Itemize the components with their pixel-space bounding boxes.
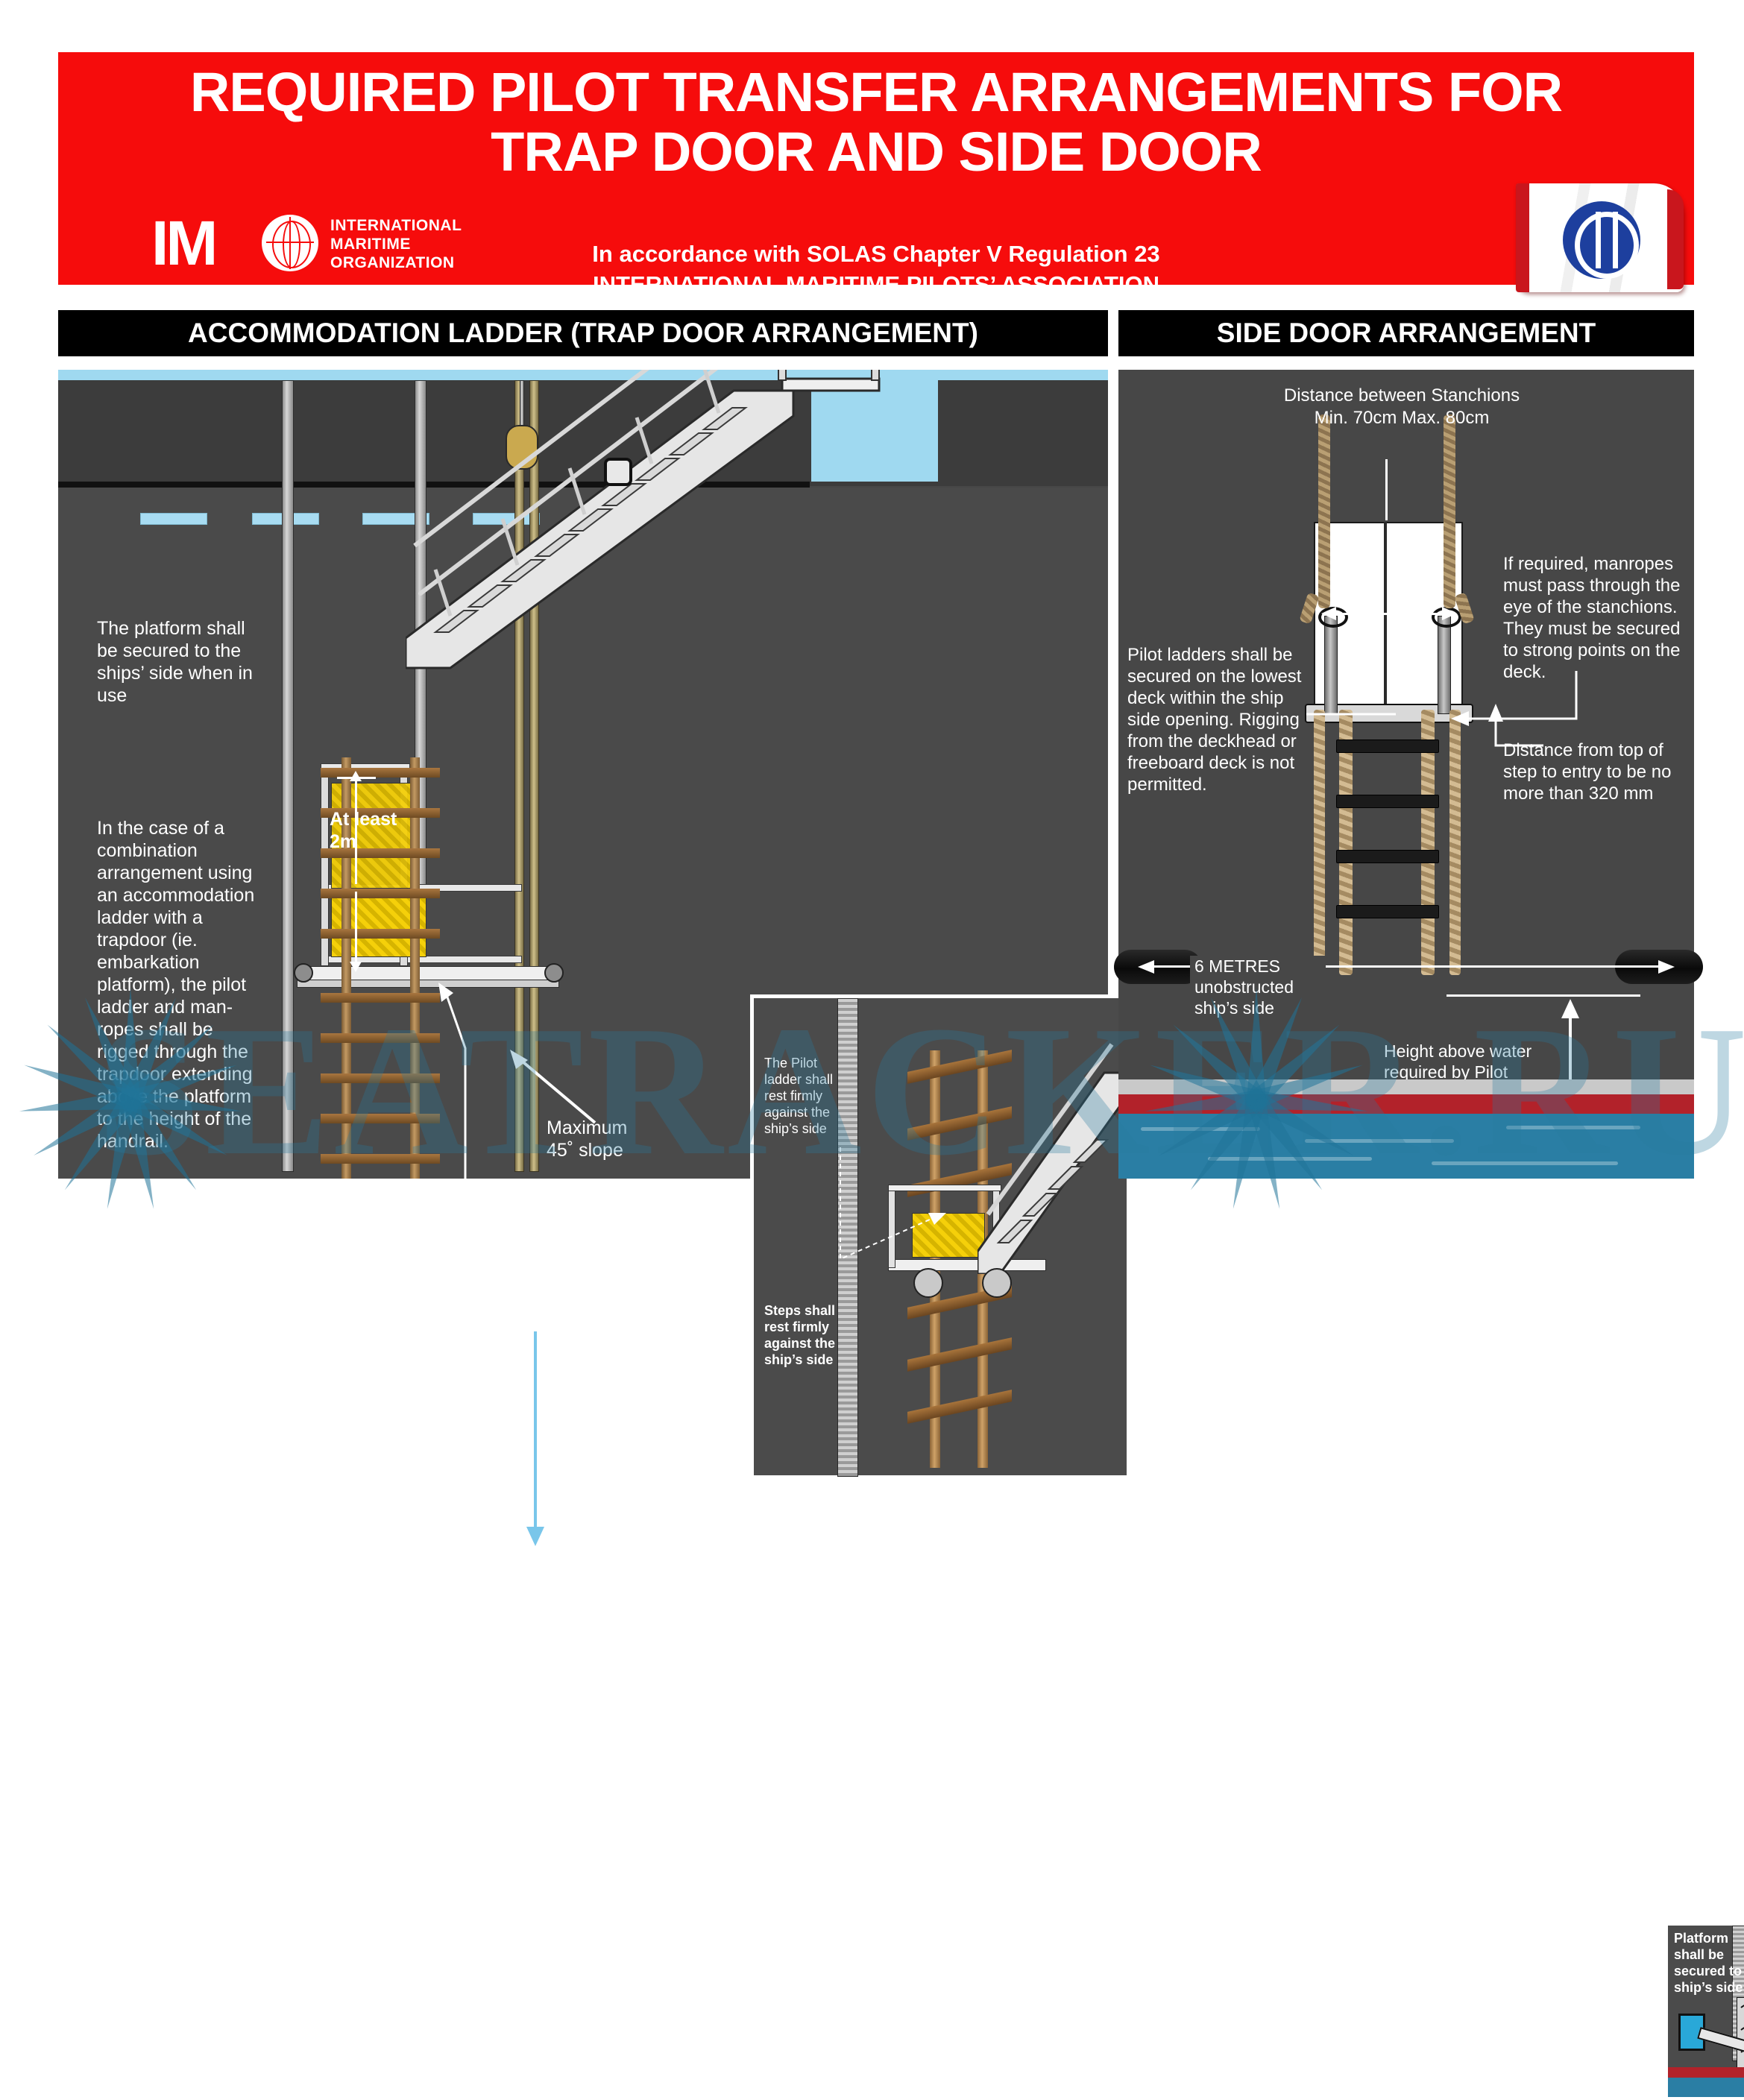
wave-line: [1141, 1127, 1260, 1131]
pilot-ladder-step: [1336, 740, 1439, 753]
inset-trapdoor-detail: The Pilot ladder shall rest firmly again…: [750, 994, 1130, 1479]
inset2-red-band: [1668, 2067, 1744, 2078]
annotation-pilot-ladders-secured: Pilot ladders shall be secured on the lo…: [1127, 644, 1320, 795]
inset-leader-1: [805, 1147, 954, 1289]
sea-water: [1118, 1114, 1694, 1179]
manrope: [1318, 414, 1330, 608]
globe-icon: [262, 215, 318, 271]
flag-red-right: [1667, 189, 1684, 289]
poster-canvas: REQUIRED PILOT TRANSFER ARRANGEMENTS FOR…: [0, 0, 1744, 1233]
at-least-label: At least: [330, 808, 426, 830]
platform-pivot: [294, 963, 313, 983]
annotation-six-metres: 6 METRES unobstructed ship’s side: [1190, 956, 1326, 1018]
six-metres-line-3: ship’s side: [1194, 997, 1321, 1018]
inset-annotation-steps-rest: Steps shall rest firmly against the ship…: [764, 1302, 852, 1368]
page-title: REQUIRED PILOT TRANSFER ARRANGEMENTS FOR…: [58, 63, 1694, 182]
imo-text-line-1: INTERNATIONAL: [330, 216, 462, 235]
annotation-height-above-water: Height above water required by Pilot: [1384, 1041, 1563, 1082]
stanchion-leader-line: [1385, 459, 1388, 520]
stanchions-line-2: Min. 70cm Max. 80cm: [1208, 407, 1596, 429]
pilot-ladder-step: [321, 929, 440, 939]
stanchion-pole: [282, 380, 294, 1172]
six-metres-line-2: unobstructed: [1194, 977, 1321, 997]
stanchion-dim-arrows: [1320, 604, 1458, 623]
leader-line-lower-platform: [431, 981, 528, 1235]
at-least-value: 2m: [330, 830, 426, 853]
imo-text-line-3: ORGANIZATION: [330, 253, 462, 272]
pilot-ladder-step: [321, 1033, 440, 1043]
wave-line: [1506, 1126, 1640, 1129]
pilot-ladder-step: [321, 889, 440, 898]
flag-red-left: [1516, 183, 1529, 292]
inset-roller: [982, 1268, 1012, 1298]
title-line-1: REQUIRED PILOT TRANSFER ARRANGEMENTS FOR: [190, 61, 1562, 123]
annotation-stanchions-distance: Distance between Stanchions Min. 70cm Ma…: [1208, 385, 1596, 429]
inset2-annotation-platform-secured: Platform shall be secured to ship’s side: [1674, 1930, 1744, 1996]
inset2-sea: [1668, 2078, 1744, 2097]
wave-line: [1432, 1161, 1618, 1165]
stanchion: [1324, 616, 1338, 714]
annotation-at-least-2m: At least 2m: [330, 808, 426, 853]
pilot-ladder-step: [321, 1114, 440, 1123]
annotation-lower-platform-horizontal: Lower platform horizontal: [468, 1226, 580, 1293]
imo-logo-mark: IM: [151, 212, 215, 274]
dim-line-lower: [355, 892, 357, 963]
flag-shape: [1516, 183, 1684, 292]
inset-platform-secured-detail: Platform shall be secured to ship’s side: [1665, 1923, 1744, 2100]
panel-title-right: SIDE DOOR ARRANGEMENT: [1118, 310, 1694, 356]
title-line-2: TRAP DOOR AND SIDE DOOR: [58, 122, 1694, 182]
manrope: [1444, 414, 1455, 608]
ship-red-band: [1118, 1094, 1694, 1114]
annotation-combination-arrangement: In the case of a combination arrangement…: [97, 817, 268, 1153]
imo-text-line-2: MARITIME: [330, 235, 462, 253]
annotation-distance-top-step: Distance from top of step to entry to be…: [1503, 740, 1690, 804]
side-door-diagram: 6 METRES unobstructed ship’s side Height…: [1118, 370, 1694, 1179]
globe-ring-inner: [283, 221, 300, 268]
max-slope-line-2: 45˚ slope: [547, 1139, 703, 1161]
panel-title-left: ACCOMMODATION LADDER (TRAP DOOR ARRANGEM…: [58, 310, 1108, 356]
hull-window: [140, 513, 207, 525]
pilot-ladder-step: [321, 1073, 440, 1083]
annotation-manropes: If required, manropes must pass through …: [1503, 553, 1688, 683]
stanchions-line-1: Distance between Stanchions: [1208, 385, 1596, 407]
ship-waterline-strip: [1118, 1079, 1694, 1094]
pilot-ladder-step: [321, 1154, 440, 1164]
impa-flag-icon: [1516, 183, 1684, 295]
height-dim-cap: [1446, 994, 1640, 997]
imo-logo-text: INTERNATIONAL MARITIME ORGANIZATION: [330, 216, 462, 272]
pilot-ladder-step: [1336, 905, 1439, 918]
impa-emblem: [1563, 201, 1640, 279]
accommodation-ladder-stairs: [406, 370, 883, 683]
annotation-platform-secured: The platform shall be secured to the shi…: [97, 617, 257, 707]
pilot-ladder-step: [321, 993, 440, 1003]
pilot-ladder-step: [1336, 795, 1439, 808]
six-metres-line-1: 6 METRES: [1194, 956, 1321, 977]
inset-annotation-pilot-ladder-rest: The Pilot ladder shall rest firmly again…: [764, 1055, 854, 1137]
platform-pivot: [544, 963, 564, 983]
imo-logo: IM INTERNATIONAL MARITIME ORGANIZATION: [151, 209, 450, 291]
embarkation-platform: [297, 966, 559, 981]
wave-line: [1305, 1139, 1454, 1143]
distance-top-step-leader: [1451, 704, 1548, 748]
pilot-ladders-leader: [1306, 707, 1403, 722]
accommodation-ladder-diagram: At least 2m The platform shall be secure…: [58, 370, 1108, 1179]
pilot-ladder-step: [1336, 850, 1439, 863]
wave-line: [1208, 1157, 1372, 1161]
pilot-ladder-manrope: [1449, 710, 1461, 975]
annotation-lower-platform-min-5m: The lower platform shall be a minimum of…: [416, 1302, 528, 1458]
header-banner: REQUIRED PILOT TRANSFER ARRANGEMENTS FOR…: [58, 52, 1694, 285]
dim-arrow-5m: [514, 1331, 559, 1548]
inset-stairs: [978, 1028, 1134, 1274]
